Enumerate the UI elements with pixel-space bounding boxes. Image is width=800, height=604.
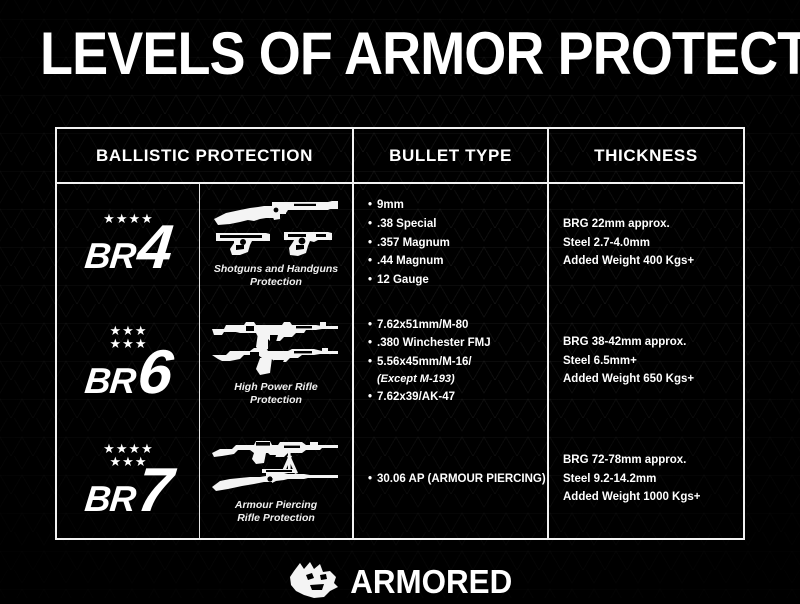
level-badge-br6: ★ ★ ★ ★ ★ ★ BR 6 (57, 302, 200, 420)
bullet-list-br4: •9mm •.38 Special •.357 Magnum •.44 Magn… (354, 184, 547, 302)
list-item: •30.06 AP (ARMOUR PIERCING) (368, 470, 547, 489)
thickness-line: Added Weight 1000 Kgs+ (563, 488, 743, 507)
level-label-br4: BR 4 (85, 223, 171, 274)
list-item: •12 Gauge (368, 271, 547, 290)
star-icon: ★ (103, 442, 115, 455)
level-number: 4 (135, 223, 174, 274)
weapon-cell-br6: High Power Rifle Protection (200, 302, 352, 420)
caption-br6: High Power Rifle Protection (234, 381, 317, 407)
level-badge-br7: ★ ★ ★ ★ ★ ★ ★ BR (57, 420, 200, 538)
sniper-rifles-icon (210, 433, 342, 495)
column-ballistic-protection: ★ ★ ★ ★ BR 4 (57, 184, 354, 538)
page-title: LEVELS OF ARMOR PROTECTION (40, 24, 760, 84)
thickness-line: Added Weight 400 Kgs+ (563, 252, 743, 271)
star-icon: ★ (116, 442, 128, 455)
table-row: ★ ★ ★ ★ ★ ★ ★ BR (57, 420, 352, 538)
thickness-line: Added Weight 650 Kgs+ (563, 370, 743, 389)
star-icon: ★ (110, 324, 122, 337)
armor-levels-table: BALLISTIC PROTECTION BULLET TYPE THICKNE… (55, 127, 745, 540)
list-item: •.357 Magnum (368, 234, 547, 253)
caption-br7: Armour Piercing Rifle Protection (235, 499, 317, 525)
thickness-line: Steel 6.5mm+ (563, 352, 743, 371)
list-item: •.44 Magnum (368, 252, 547, 271)
list-item: •.380 Winchester FMJ (368, 334, 547, 353)
thickness-line: BRG 38-42mm approx. (563, 333, 743, 352)
weapon-cell-br4: Shotguns and Handguns Protection (200, 184, 352, 302)
caption-br4: Shotguns and Handguns Protection (214, 263, 338, 289)
table-header-row: BALLISTIC PROTECTION BULLET TYPE THICKNE… (57, 129, 743, 184)
list-item: •7.62x39/AK-47 (368, 388, 547, 407)
header-thickness: THICKNESS (549, 129, 743, 182)
weapon-cell-br7: Armour Piercing Rifle Protection (200, 420, 352, 538)
level-prefix: BR (83, 484, 136, 514)
header-ballistic-protection: BALLISTIC PROTECTION (57, 129, 354, 182)
level-prefix: BR (83, 241, 136, 271)
star-icon: ★ (141, 442, 153, 455)
thickness-line: BRG 72-78mm approx. (563, 451, 743, 470)
thickness-br6: BRG 38-42mm approx. Steel 6.5mm+ Added W… (549, 302, 743, 420)
lion-head-logo-icon (284, 559, 340, 604)
brand-name: ARMORED (350, 563, 512, 601)
list-item: •.38 Special (368, 215, 547, 234)
table-row: ★ ★ ★ ★ ★ ★ BR 6 (57, 302, 352, 420)
list-item-note: (Except M-193) (368, 371, 547, 388)
assault-rifles-icon (210, 315, 342, 377)
level-number: 7 (135, 466, 174, 517)
star-icon: ★ (135, 324, 147, 337)
star-icon: ★ (128, 442, 140, 455)
list-item: •9mm (368, 196, 547, 215)
footer-brand: ARMORED (0, 559, 800, 604)
level-prefix: BR (83, 366, 136, 396)
list-item: •5.56x45mm/M-16/ (368, 353, 547, 372)
column-thickness: BRG 22mm approx. Steel 2.7-4.0mm Added W… (549, 184, 743, 538)
thickness-br7: BRG 72-78mm approx. Steel 9.2-14.2mm Add… (549, 420, 743, 538)
thickness-line: Steel 2.7-4.0mm (563, 234, 743, 253)
level-badge-br4: ★ ★ ★ ★ BR 4 (57, 184, 200, 302)
level-label-br6: BR 6 (85, 348, 171, 399)
header-bullet-type: BULLET TYPE (354, 129, 549, 182)
table-row: ★ ★ ★ ★ BR 4 (57, 184, 352, 302)
level-number: 6 (135, 348, 174, 399)
bullet-list-br7: •30.06 AP (ARMOUR PIERCING) (354, 420, 547, 538)
bullet-list-br6: •7.62x51mm/M-80 •.380 Winchester FMJ •5.… (354, 302, 547, 420)
list-item: •7.62x51mm/M-80 (368, 316, 547, 335)
thickness-br4: BRG 22mm approx. Steel 2.7-4.0mm Added W… (549, 184, 743, 302)
level-label-br7: BR 7 (85, 466, 171, 517)
column-bullet-type: •9mm •.38 Special •.357 Magnum •.44 Magn… (354, 184, 549, 538)
thickness-line: Steel 9.2-14.2mm (563, 470, 743, 489)
shotgun-and-handguns-icon (210, 197, 342, 259)
thickness-line: BRG 22mm approx. (563, 215, 743, 234)
star-icon: ★ (122, 324, 134, 337)
table-body: ★ ★ ★ ★ BR 4 (57, 184, 743, 538)
